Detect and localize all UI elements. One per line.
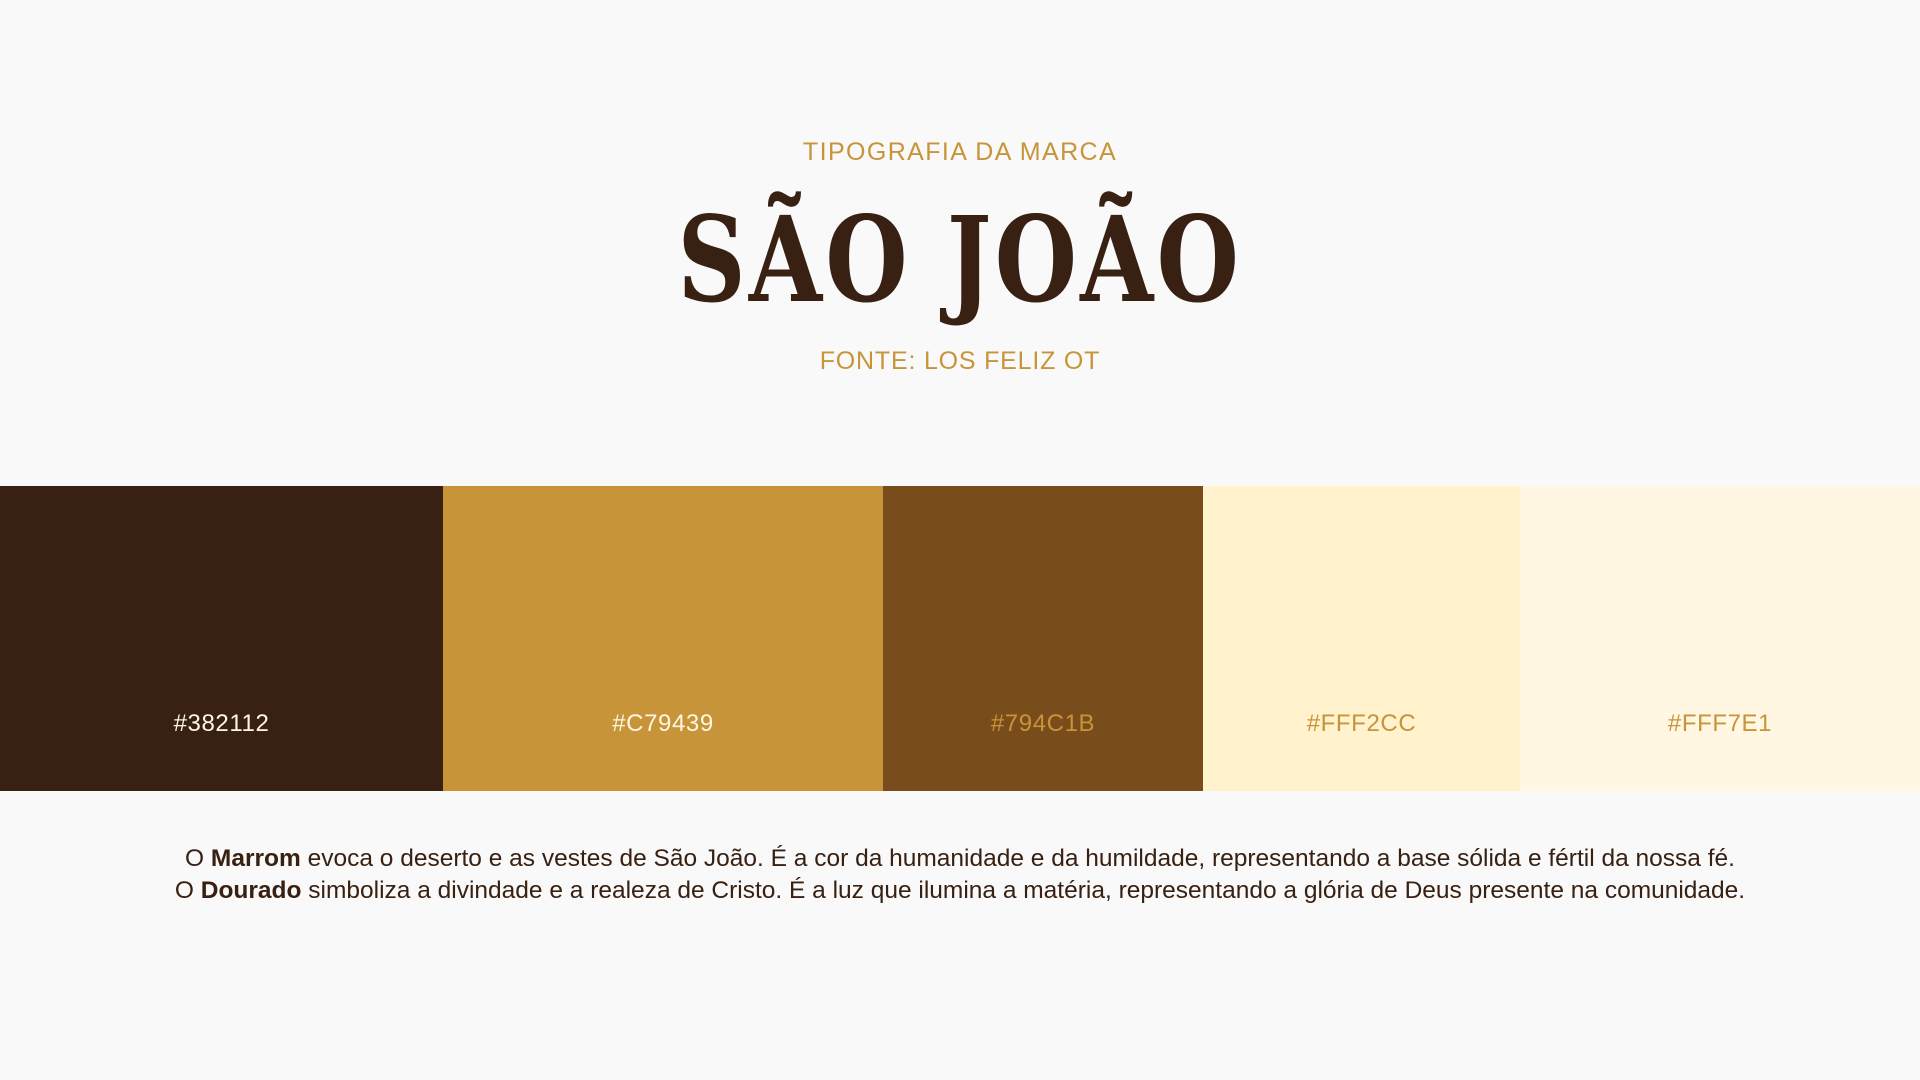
color-swatch-hex-label: #C79439 [612,712,714,736]
color-swatch[interactable]: #FFF7E1 [1520,486,1920,791]
color-swatch[interactable]: #C79439 [443,486,883,791]
palette-description-line: O Dourado simboliza a divindade e a real… [175,875,1745,907]
description-body: simboliza a divindade e a realeza de Cri… [301,877,1745,904]
palette-description-line: O Marrom evoca o deserto e as vestes de … [185,843,1735,875]
description-prefix: O [175,877,201,904]
color-swatch[interactable]: #794C1B [883,486,1203,791]
description-body: evoca o deserto e as vestes de São João.… [301,845,1735,872]
brand-title: SÃO JOÃO [678,201,1242,319]
description-prefix: O [185,845,211,872]
color-swatch[interactable]: #FFF2CC [1203,486,1520,791]
color-swatch[interactable]: #382112 [0,486,443,791]
typography-section: TIPOGRAFIA DA MARCA SÃO JOÃO FONTE: LOS … [0,0,1920,486]
typography-eyebrow-label: TIPOGRAFIA DA MARCA [803,140,1117,165]
description-color-name: Dourado [201,877,302,904]
color-swatch-hex-label: #382112 [174,712,270,736]
color-swatch-hex-label: #794C1B [991,712,1095,736]
color-palette-band: #382112#C79439#794C1B#FFF2CC#FFF7E1 [0,486,1920,791]
color-swatch-hex-label: #FFF7E1 [1668,712,1772,736]
color-swatch-hex-label: #FFF2CC [1307,712,1417,736]
palette-description-section: O Marrom evoca o deserto e as vestes de … [0,791,1920,1080]
description-color-name: Marrom [211,845,301,872]
font-name-label: FONTE: LOS FELIZ OT [820,349,1101,374]
brand-style-guide-page: TIPOGRAFIA DA MARCA SÃO JOÃO FONTE: LOS … [0,0,1920,1080]
